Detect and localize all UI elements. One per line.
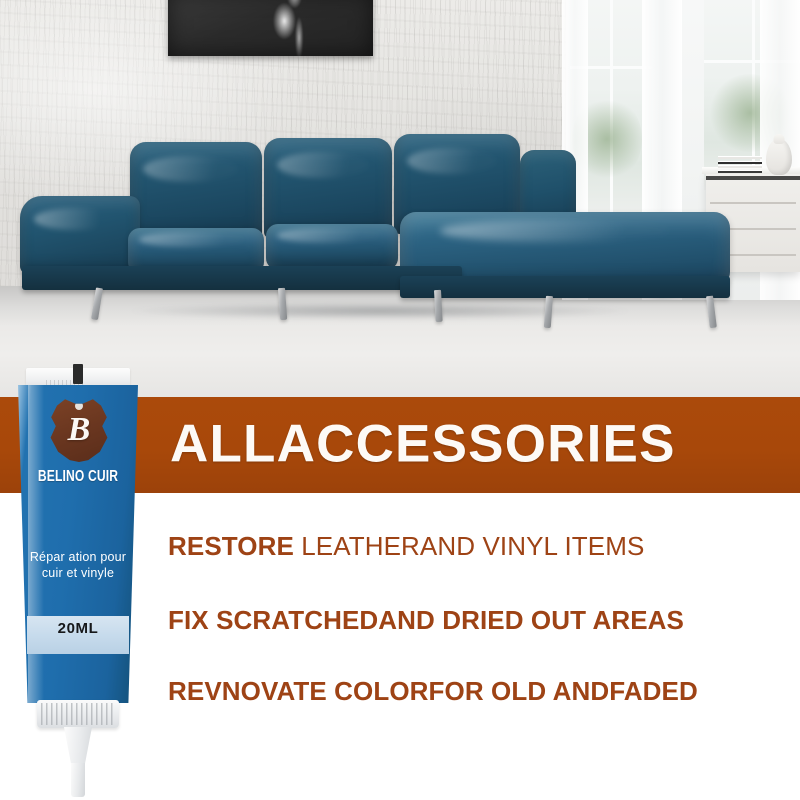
tube-volume-label: 20ML: [8, 620, 148, 637]
brand-name: BELINO CUIR: [23, 468, 132, 486]
room-photo: [0, 0, 800, 400]
sofa-back-cushion-1: [130, 142, 262, 242]
feature-3-lead: REVNOVATE COLORFOR OLD ANDFADED: [168, 676, 698, 706]
sofa-leg-4: [544, 296, 553, 328]
logo-letter: B: [50, 411, 108, 449]
tube-seal-tab: [73, 364, 83, 384]
feature-1-rest: LEATHERAND VINYL ITEMS: [294, 531, 644, 561]
sofa-seat-cushion-2: [266, 224, 398, 270]
tube-cap-ridges: [41, 703, 115, 725]
feature-line-2: FIX SCRATCHEDAND DRIED OUT AREAS: [168, 605, 684, 636]
sofa-leg-2: [278, 288, 287, 320]
sofa-base-chaise: [400, 276, 730, 298]
tube-description-line-1: Répar ation pour: [8, 549, 148, 565]
sofa-base-main: [22, 266, 462, 290]
feature-line-3: REVNOVATE COLORFOR OLD ANDFADED: [168, 676, 698, 707]
tube-description-line-2: cuir et vinyle: [8, 565, 148, 581]
sofa-armrest-left: [20, 196, 140, 274]
tube-highlight: [28, 385, 44, 703]
product-advertisement: ALLACCESSORIES RESTORE LEATHERAND VINYL …: [0, 0, 800, 800]
sofa-back-cushion-2: [264, 138, 392, 238]
sectional-sofa: [0, 0, 800, 400]
feature-line-1: RESTORE LEATHERAND VINYL ITEMS: [168, 531, 644, 562]
tube-nozzle-tip: [71, 763, 85, 797]
banner-title: ALLACCESSORIES: [170, 413, 676, 474]
tube-nozzle: [64, 727, 92, 765]
feature-2-lead: FIX SCRATCHEDAND DRIED OUT AREAS: [168, 605, 684, 635]
tube-description: Répar ation pour cuir et vinyle: [8, 549, 148, 581]
product-tube: B BELINO CUIR Répar ation pour cuir et v…: [8, 358, 148, 800]
feature-1-lead: RESTORE: [168, 531, 294, 561]
sofa-floor-shadow: [30, 300, 730, 322]
